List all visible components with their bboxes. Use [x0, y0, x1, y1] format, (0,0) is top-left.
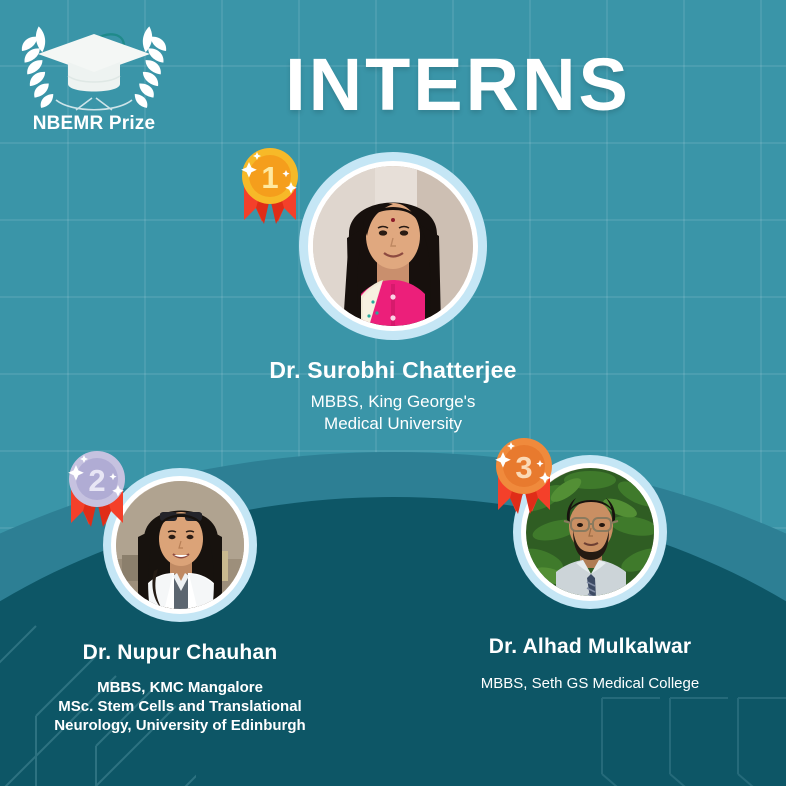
medal-badge-third-place: 3 — [490, 432, 558, 524]
svg-text:3: 3 — [515, 450, 532, 485]
award-name: Dr. Surobhi Chatterjee — [0, 357, 786, 384]
avatar-nupur-chauhan — [116, 481, 244, 609]
award-entry-third-place: 3 Dr. Alhad Mulkalwar MBBS, Seth GS Medi… — [394, 455, 786, 693]
interns-award-poster: NBEMR Prize INTERNS — [0, 0, 786, 786]
award-credentials: MBBS, King George's Medical University — [0, 391, 786, 435]
medal-badge-second-place: 2 — [63, 445, 131, 537]
medal-badge-first-place: 1 — [236, 142, 304, 234]
page-title: INTERNS — [0, 42, 786, 127]
portrait-frame — [299, 152, 487, 340]
award-credentials: MBBS, KMC Mangalore MSc. Stem Cells and … — [0, 678, 360, 736]
svg-text:1: 1 — [261, 160, 278, 195]
svg-text:2: 2 — [88, 463, 105, 498]
award-credentials: MBBS, Seth GS Medical College — [394, 674, 786, 693]
award-entry-first-place: 1 Dr. Surobhi Chatterjee MBBS, King Geor… — [0, 152, 786, 435]
award-name: Dr. Nupur Chauhan — [0, 641, 360, 665]
avatar-surobhi-chatterjee — [313, 166, 473, 326]
award-entry-second-place: 2 Dr. Nupur Chauhan MBBS, KMC Mangalore … — [0, 468, 360, 736]
award-name: Dr. Alhad Mulkalwar — [394, 635, 786, 659]
